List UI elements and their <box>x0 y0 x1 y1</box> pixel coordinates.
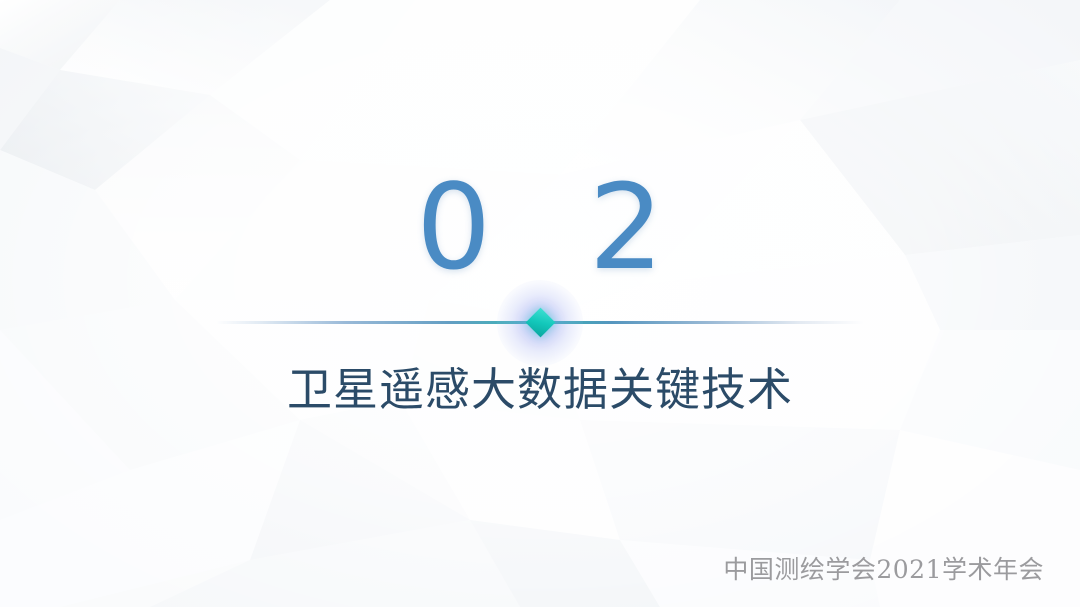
divider-line-right <box>540 321 864 324</box>
footer-conference-name: 中国测绘学会2021学术年会 <box>723 553 1044 587</box>
section-title: 卫星遥感大数据关键技术 <box>0 361 1080 419</box>
section-number: 0 2 <box>0 168 1080 286</box>
divider <box>216 321 864 324</box>
presentation-slide: 0 2 卫星遥感大数据关键技术 中国测绘学会2021学术年会 <box>0 0 1080 607</box>
polygon-background <box>0 0 1080 607</box>
divider-line-left <box>216 321 540 324</box>
